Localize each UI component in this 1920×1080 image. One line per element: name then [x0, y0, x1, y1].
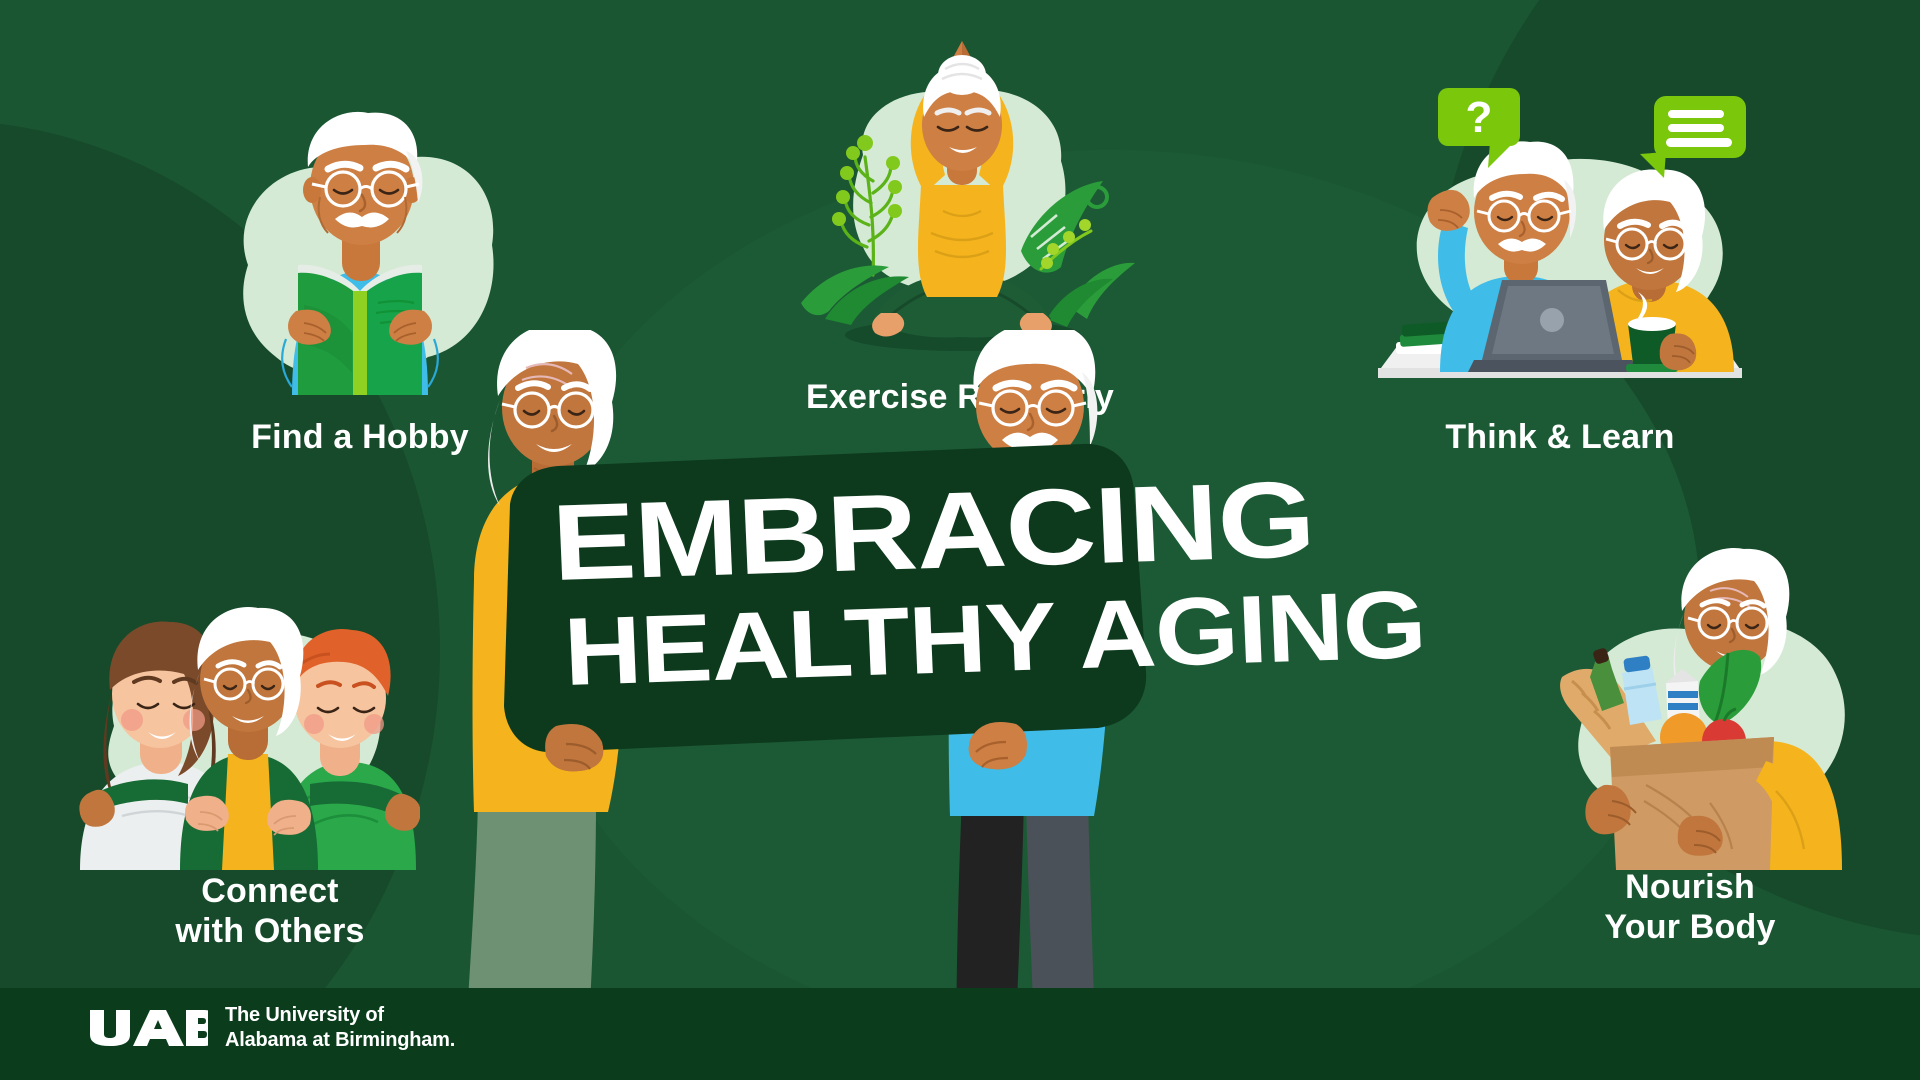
uab-logo[interactable]: The University of Alabama at Birmingham. — [88, 1003, 455, 1052]
poster-canvas: Find a Hobby — [0, 0, 1920, 1080]
yoga-illustration-svg — [785, 35, 1135, 365]
caption-think-and-learn: Think & Learn — [1360, 418, 1760, 458]
illustration-think-and-learn: ? — [1370, 80, 1750, 390]
title-block: EMBRACING HEALTHY AGING — [600, 447, 1200, 747]
caption-connect-with-others: Connect with Others — [60, 872, 480, 952]
think-learn-illustration-svg: ? — [1370, 80, 1750, 390]
nourish-illustration-svg — [1560, 545, 1900, 870]
title-line-healthy-aging: HEALTHY AGING — [562, 576, 1238, 708]
uab-wordmark: The University of Alabama at Birmingham. — [225, 1003, 455, 1052]
illustration-exercise-regularly — [785, 35, 1135, 365]
caption-nourish-your-body: Nourish Your Body — [1500, 868, 1880, 948]
uab-letters-svg — [88, 1008, 208, 1048]
connect-illustration-svg — [60, 540, 420, 870]
palm-right-icon — [1047, 263, 1135, 327]
uab-monogram-icon — [88, 1008, 208, 1048]
illustration-nourish-your-body — [1560, 545, 1900, 870]
svg-text:?: ? — [1466, 93, 1493, 142]
illustration-connect-with-others — [60, 540, 420, 870]
text-speech-bubble-icon — [1640, 96, 1746, 178]
